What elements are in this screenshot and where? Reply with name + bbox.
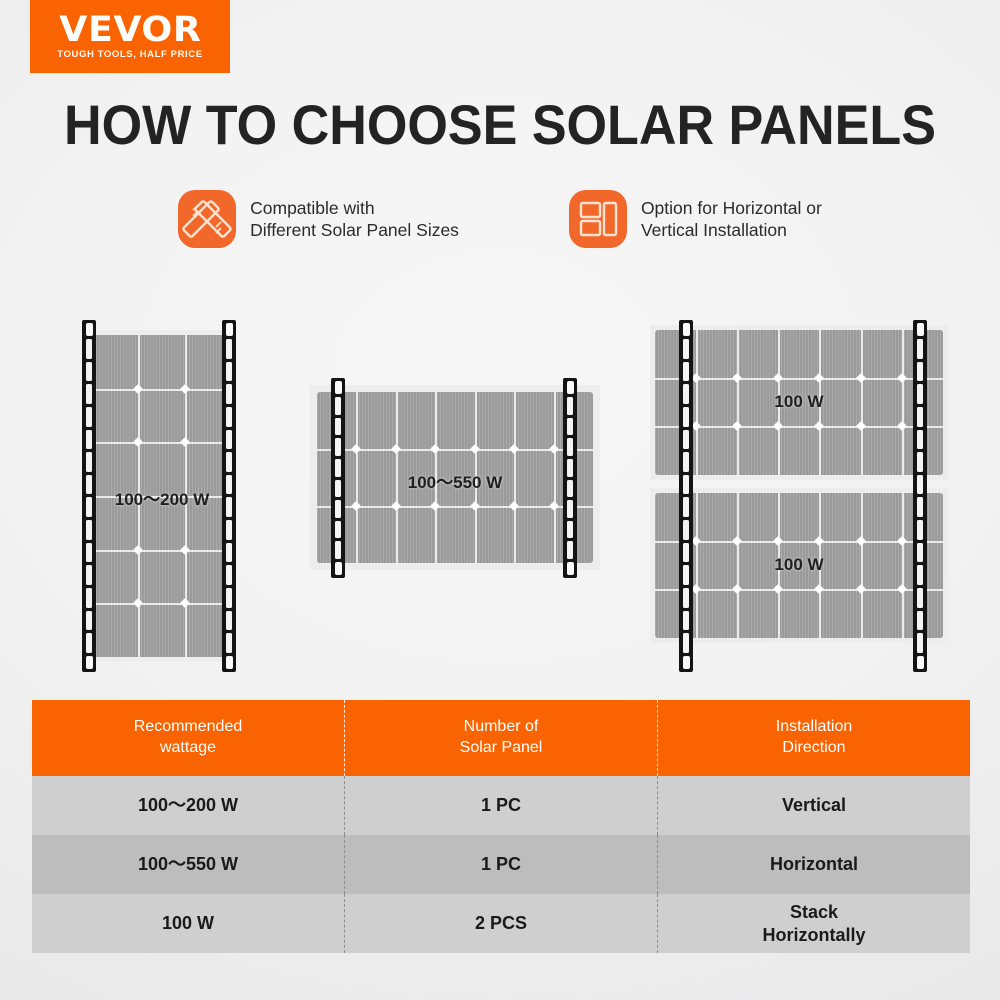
- panel-layout-icon: [569, 190, 627, 248]
- table-cell-wattage: 100〜200 W: [32, 776, 344, 835]
- feature-item-orientation: Option for Horizontal or Vertical Instal…: [569, 190, 822, 248]
- crossed-rails-icon: [178, 190, 236, 248]
- feature-item-compatibility: Compatible with Different Solar Panel Si…: [178, 190, 459, 248]
- table-row: 100〜550 W 1 PC Horizontal: [32, 835, 970, 894]
- stacked-panel-top: 100 W: [655, 330, 943, 475]
- table-row: 100 W 2 PCS Stack Horizontally: [32, 894, 970, 953]
- mounting-rail-right-left: [679, 320, 693, 672]
- mounting-rail-right-right: [913, 320, 927, 672]
- mounting-rail-left-outer: [82, 320, 96, 672]
- table-cell-count: 2 PCS: [344, 894, 657, 953]
- page-title: HOW TO CHOOSE SOLAR PANELS: [35, 92, 965, 157]
- feature-item-label: Option for Horizontal or Vertical Instal…: [641, 197, 822, 242]
- spec-table: Recommended wattage Number of Solar Pane…: [32, 700, 970, 953]
- table-header-row: Recommended wattage Number of Solar Pane…: [32, 700, 970, 776]
- table-cell-wattage: 100 W: [32, 894, 344, 953]
- table-cell-wattage: 100〜550 W: [32, 835, 344, 894]
- stacked-panel-bottom-wattage-label: 100 W: [655, 555, 943, 575]
- table-row: 100〜200 W 1 PC Vertical: [32, 776, 970, 835]
- brand-tagline: TOUGH TOOLS, HALF PRICE: [57, 50, 202, 60]
- infographic-page: VEVOR TOUGH TOOLS, HALF PRICE HOW TO CHO…: [0, 0, 1000, 1000]
- table-cell-direction: Stack Horizontally: [657, 894, 970, 953]
- table-header-cell-wattage: Recommended wattage: [32, 700, 344, 776]
- feature-list: Compatible with Different Solar Panel Si…: [0, 190, 1000, 248]
- feature-item-label: Compatible with Different Solar Panel Si…: [250, 197, 459, 242]
- mounting-rail-middle-right: [563, 378, 577, 578]
- vertical-panel: 100〜200 W: [93, 335, 231, 657]
- horizontal-panel-wattage-label: 100〜550 W: [317, 468, 593, 493]
- brand-name: VEVOR: [59, 13, 201, 48]
- horizontal-panel: 100〜550 W: [317, 392, 593, 563]
- table-header-cell-count: Number of Solar Panel: [344, 700, 657, 776]
- table-cell-direction: Vertical: [657, 776, 970, 835]
- vevor-logo: VEVOR TOUGH TOOLS, HALF PRICE: [30, 0, 230, 73]
- mounting-rail-left-inner: [222, 320, 236, 672]
- vertical-panel-wattage-label: 100〜200 W: [93, 485, 231, 510]
- table-cell-count: 1 PC: [344, 776, 657, 835]
- stacked-panel-top-wattage-label: 100 W: [655, 392, 943, 412]
- table-cell-count: 1 PC: [344, 835, 657, 894]
- table-cell-direction: Horizontal: [657, 835, 970, 894]
- mounting-rail-middle-left: [331, 378, 345, 578]
- table-header-cell-direction: Installation Direction: [657, 700, 970, 776]
- panel-illustration: 100〜200 W: [0, 300, 1000, 690]
- stacked-panel-bottom: 100 W: [655, 493, 943, 638]
